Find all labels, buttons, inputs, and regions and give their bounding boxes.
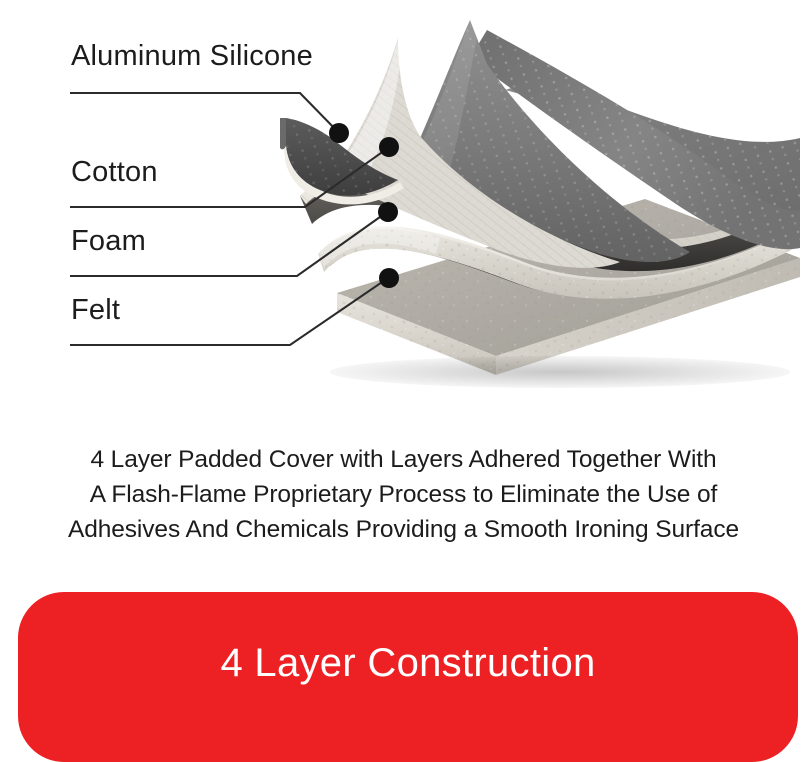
description-line-2: A Flash-Flame Proprietary Process to Eli… <box>0 477 807 512</box>
callout-dot-aluminum-silicone <box>329 123 349 143</box>
callout-label-aluminum-silicone: Aluminum Silicone <box>71 42 313 71</box>
banner-label: 4 Layer Construction <box>220 643 595 683</box>
callout-dot-cotton <box>379 137 399 157</box>
callout-label-cotton: Cotton <box>71 158 158 187</box>
description-line-1: 4 Layer Padded Cover with Layers Adhered… <box>0 442 807 477</box>
layer-construction-banner: 4 Layer Construction <box>18 592 798 762</box>
callout-label-felt: Felt <box>71 296 120 325</box>
callout-dot-felt <box>379 268 399 288</box>
callout-label-foam: Foam <box>71 227 146 256</box>
callout-dot-foam <box>378 202 398 222</box>
description-line-3: Adhesives And Chemicals Providing a Smoo… <box>0 512 807 547</box>
product-infographic: Aluminum Silicone Cotton Foam Felt 4 Lay… <box>0 0 807 747</box>
product-description: 4 Layer Padded Cover with Layers Adhered… <box>0 442 807 547</box>
